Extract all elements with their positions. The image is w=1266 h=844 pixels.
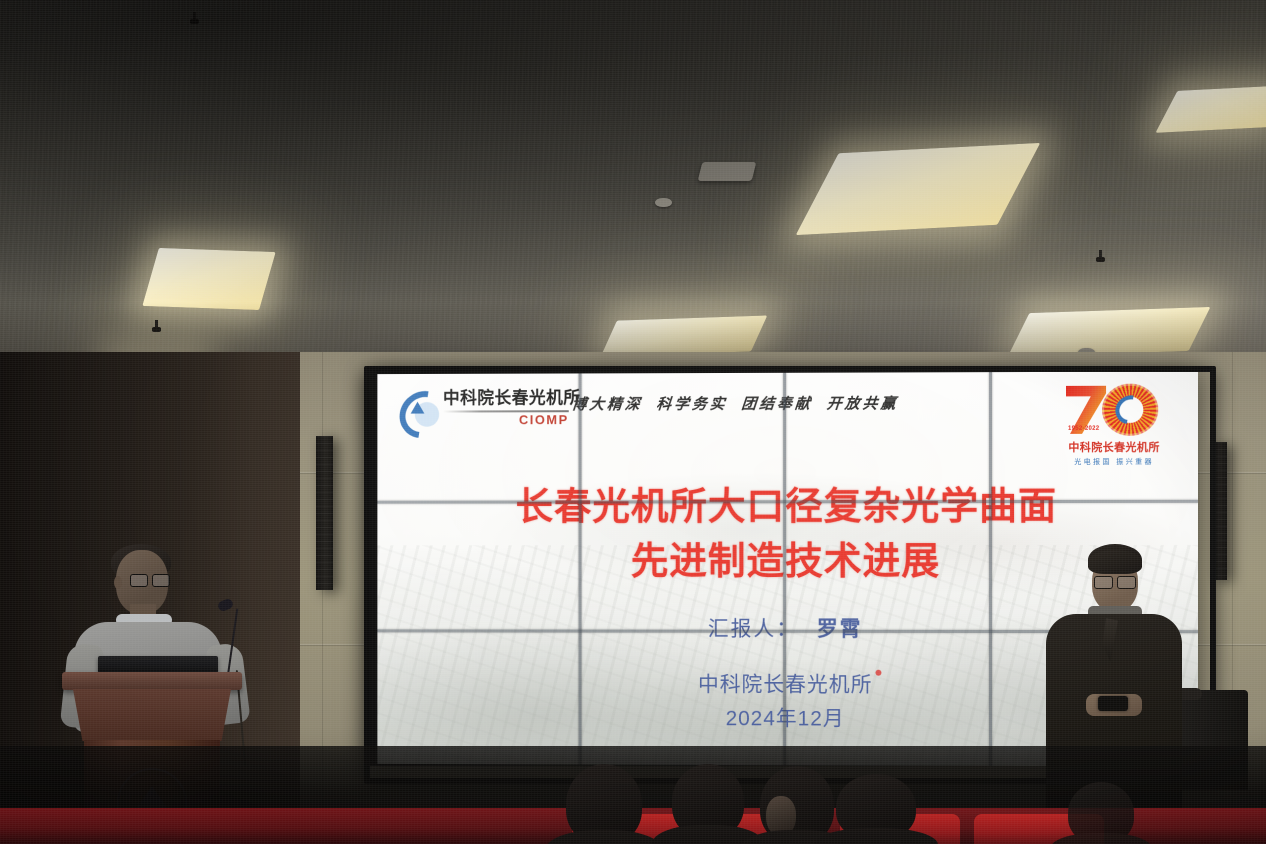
anniversary-logo: 1952-2022 中科院长春光机所 光电报国 振兴重器 bbox=[1054, 382, 1174, 476]
eyeglasses-icon bbox=[130, 574, 170, 585]
audience-face bbox=[766, 796, 796, 836]
logo-english-name: CIOMP bbox=[443, 413, 569, 427]
mobile-phone bbox=[1098, 696, 1128, 711]
slide-header: 中科院长春光机所 CIOMP 博大精深科学务实团结奉献开放共赢 1952-202… bbox=[377, 372, 1198, 445]
left-line-array-speaker bbox=[316, 436, 333, 590]
slide-title-line-1: 长春光机所大口径复杂光学曲面 bbox=[377, 480, 1198, 536]
institute-motto: 博大精深科学务实团结奉献开放共赢 bbox=[571, 392, 913, 414]
right-line-array-speaker bbox=[1211, 442, 1227, 580]
anniversary-years: 1952-2022 bbox=[1068, 426, 1099, 432]
presenter-name: 罗霄 bbox=[817, 618, 863, 641]
registered-mark-icon bbox=[875, 670, 881, 676]
logo-chinese-name: 中科院长春光机所 bbox=[443, 389, 581, 406]
hair-front bbox=[1088, 550, 1142, 574]
motto-part-1: 博大精深 bbox=[571, 397, 643, 413]
audience-head bbox=[566, 764, 642, 844]
motto-part-4: 开放共赢 bbox=[826, 396, 899, 412]
organization-text: 中科院长春光机所 bbox=[698, 674, 873, 697]
audience-head bbox=[836, 774, 916, 840]
slide-organization: 中科院长春光机所 bbox=[698, 673, 873, 699]
eyeglasses-icon bbox=[1094, 576, 1136, 587]
ear bbox=[114, 576, 122, 589]
motto-part-3: 团结奉献 bbox=[741, 397, 814, 413]
audience-head bbox=[672, 764, 744, 838]
ciomp-swoosh-icon bbox=[399, 391, 438, 427]
podium-top bbox=[62, 672, 242, 690]
ceiling bbox=[0, 0, 1266, 392]
presenter-label: 汇报人： bbox=[708, 618, 799, 641]
anniversary-mark-icon: 1952-2022 bbox=[1058, 382, 1170, 438]
anniversary-institute-name: 中科院长春光机所 bbox=[1054, 439, 1174, 455]
podium-front bbox=[73, 689, 231, 741]
anniversary-tagline: 光电报国 振兴重器 bbox=[1054, 457, 1174, 467]
conference-hall-photo: 中科院长春光机所 CIOMP 博大精深科学务实团结奉献开放共赢 1952-202… bbox=[0, 0, 1266, 844]
motto-part-2: 科学务实 bbox=[656, 397, 729, 413]
audience-head bbox=[760, 766, 834, 844]
laptop[interactable] bbox=[98, 656, 218, 673]
audience-head bbox=[1068, 782, 1134, 844]
ciomp-logo: 中科院长春光机所 CIOMP bbox=[399, 389, 581, 427]
